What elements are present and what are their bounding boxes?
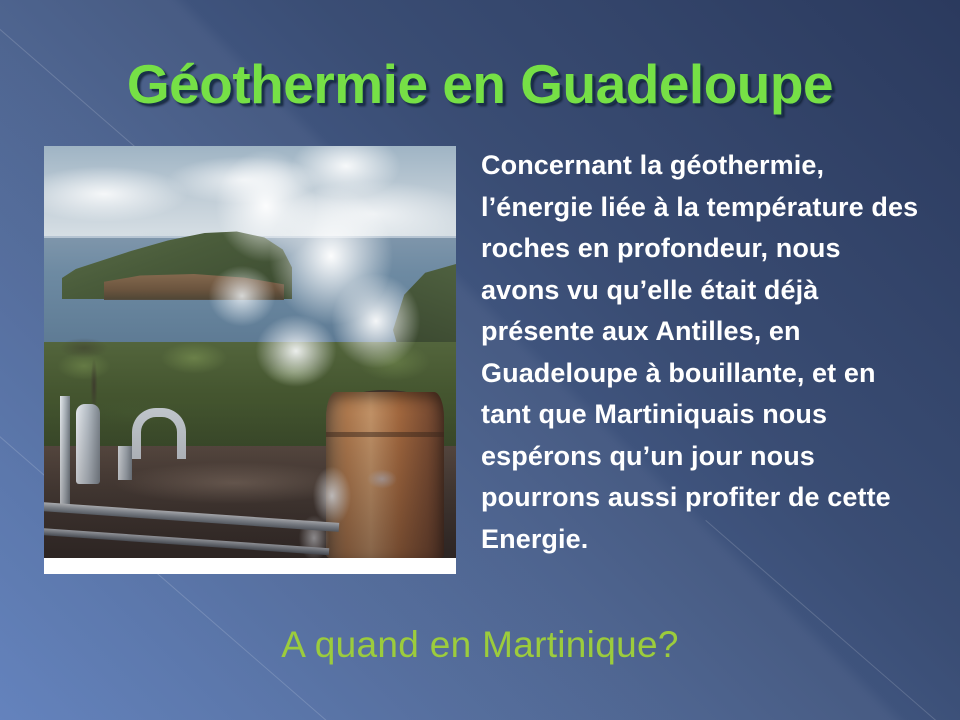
presentation-slide: Géothermie en Guadeloupe: [0, 0, 960, 720]
photo-frame: [44, 146, 456, 574]
photo-foreground-shadow: [44, 146, 456, 558]
body-paragraph: Concernant la géothermie, l’énergie liée…: [481, 145, 919, 560]
geothermal-power-plant-photo: [44, 146, 456, 558]
page-title: Géothermie en Guadeloupe: [0, 55, 960, 114]
closing-question: A quand en Martinique?: [0, 624, 960, 666]
photo-caption-strip: [44, 558, 456, 574]
